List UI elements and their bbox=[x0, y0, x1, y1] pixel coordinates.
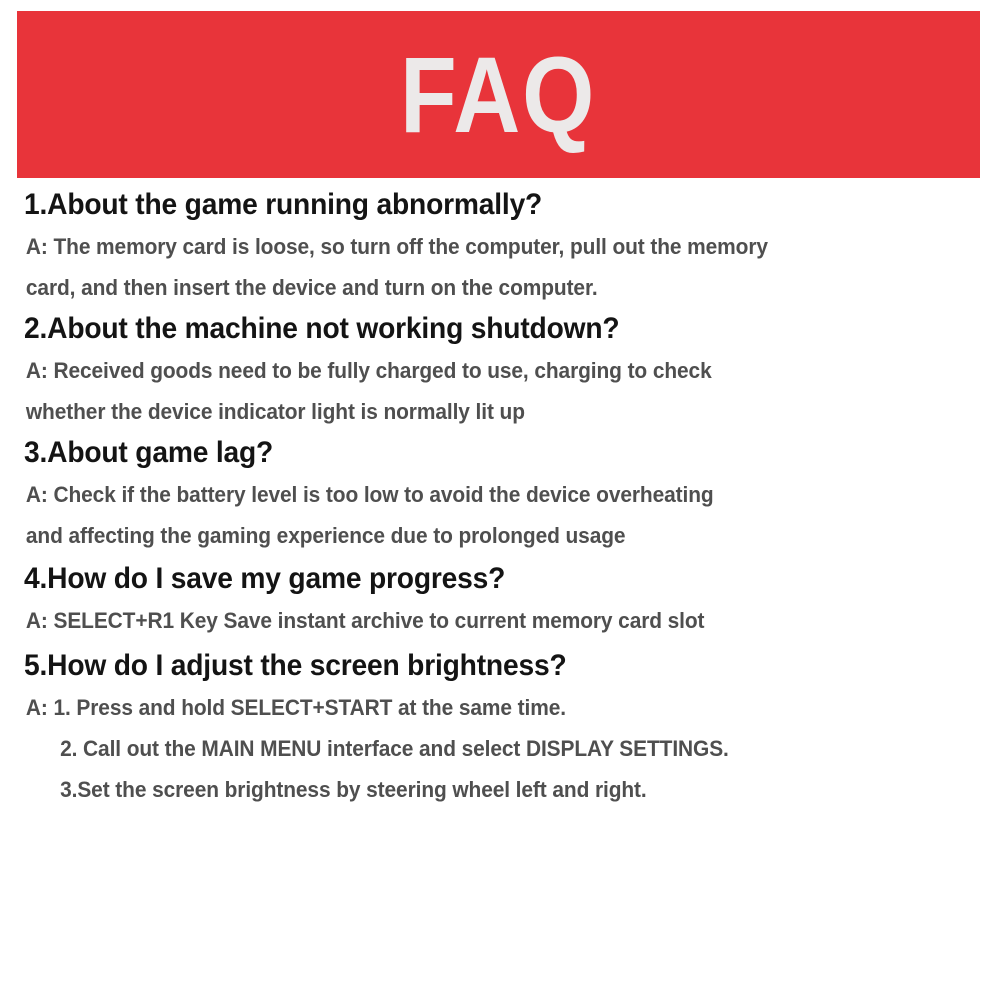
faq-answer-line: A: The memory card is loose, so turn off… bbox=[26, 226, 932, 267]
faq-answer: A: Received goods need to be fully charg… bbox=[24, 350, 932, 432]
faq-answer-line: 2. Call out the MAIN MENU interface and … bbox=[26, 728, 932, 769]
faq-item: 3.About game lag? A: Check if the batter… bbox=[24, 434, 980, 556]
faq-item: 1.About the game running abnormally? A: … bbox=[24, 186, 980, 308]
faq-item: 4.How do I save my game progress? A: SEL… bbox=[24, 560, 980, 641]
faq-answer: A: Check if the battery level is too low… bbox=[24, 474, 932, 556]
faq-answer: A: SELECT+R1 Key Save instant archive to… bbox=[24, 600, 932, 641]
faq-question: 5.How do I adjust the screen brightness? bbox=[24, 647, 923, 685]
faq-list: 1.About the game running abnormally? A: … bbox=[0, 186, 1000, 810]
faq-answer-line: A: Received goods need to be fully charg… bbox=[26, 350, 932, 391]
faq-question: 1.About the game running abnormally? bbox=[24, 186, 923, 224]
faq-page: FAQ 1.About the game running abnormally?… bbox=[0, 0, 1000, 1000]
faq-answer-line: A: SELECT+R1 Key Save instant archive to… bbox=[26, 600, 932, 641]
faq-answer-line: 3.Set the screen brightness by steering … bbox=[26, 769, 932, 810]
page-title: FAQ bbox=[400, 41, 596, 149]
faq-answer-line: A: 1. Press and hold SELECT+START at the… bbox=[26, 687, 932, 728]
faq-answer-line: and affecting the gaming experience due … bbox=[26, 515, 932, 556]
faq-answer: A: The memory card is loose, so turn off… bbox=[24, 226, 932, 308]
faq-question: 4.How do I save my game progress? bbox=[24, 560, 923, 598]
faq-answer-line: A: Check if the battery level is too low… bbox=[26, 474, 932, 515]
faq-answer-line: card, and then insert the device and tur… bbox=[26, 267, 932, 308]
faq-answer: A: 1. Press and hold SELECT+START at the… bbox=[24, 687, 932, 810]
faq-header-banner: FAQ bbox=[17, 11, 980, 178]
faq-question: 2.About the machine not working shutdown… bbox=[24, 310, 923, 348]
faq-question: 3.About game lag? bbox=[24, 434, 923, 472]
faq-item: 5.How do I adjust the screen brightness?… bbox=[24, 647, 980, 810]
faq-answer-line: whether the device indicator light is no… bbox=[26, 391, 932, 432]
faq-item: 2.About the machine not working shutdown… bbox=[24, 310, 980, 432]
